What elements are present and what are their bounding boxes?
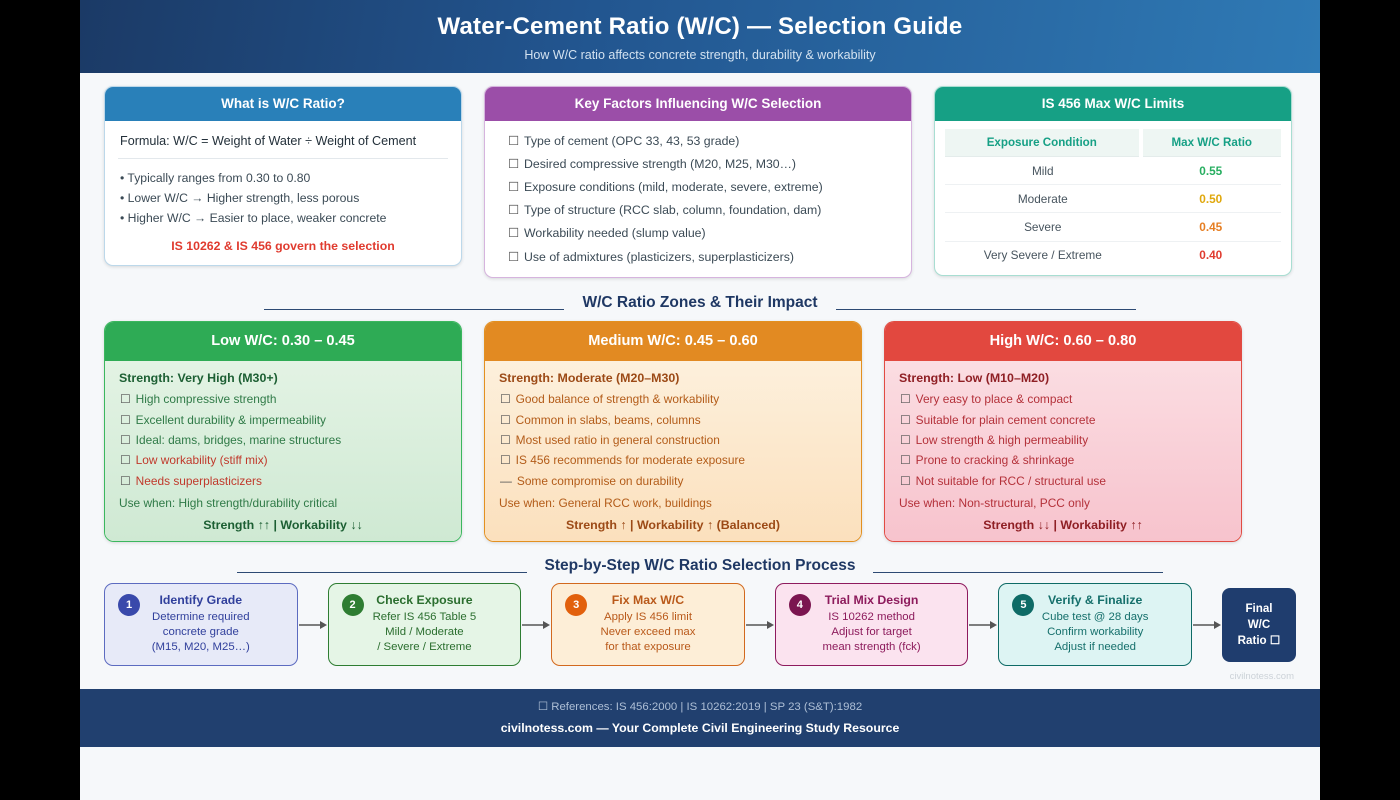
key-factors-list: ☐Type of cement (OPC 33, 43, 53 grade) ☐… [498, 129, 898, 268]
step-line: / Severe / Extreme [337, 640, 513, 655]
checkbox-icon: ☐ [500, 453, 511, 467]
arrow-icon [521, 619, 551, 631]
card-is456-limits: IS 456 Max W/C Limits Exposure Condition… [934, 86, 1292, 276]
cell-ratio: 0.40 [1141, 241, 1281, 269]
table-row: Severe 0.45 [945, 213, 1281, 241]
list-item-label: Most used ratio in general construction [516, 433, 720, 447]
zone-card-high: High W/C: 0.60 – 0.80 Strength: Low (M10… [884, 321, 1242, 542]
list-item-label: IS 456 recommends for moderate exposure [516, 453, 745, 467]
zone-medium-use-when: Use when: General RCC work, buildings [499, 496, 847, 510]
step-line: concrete grade [113, 625, 289, 640]
list-item-label: Use of admixtures (plasticizers, superpl… [524, 250, 794, 264]
checkbox-icon: ☐ [508, 180, 519, 194]
page-header: Water-Cement Ratio (W/C) — Selection Gui… [80, 0, 1320, 73]
zone-low-footer: Strength ↑↑ | Workability ↓↓ [119, 518, 447, 532]
list-item: ☐Most used ratio in general construction [499, 430, 847, 450]
arrow-icon [1192, 619, 1222, 631]
column-header-exposure: Exposure Condition [945, 129, 1141, 157]
list-item: • Higher W/C → Easier to place, weaker c… [118, 208, 448, 228]
top-cards-row: What is W/C Ratio? Formula: W/C = Weight… [80, 86, 1320, 278]
list-item: ☐Needs superplasticizers [119, 471, 447, 491]
wc-formula: Formula: W/C = Weight of Water ÷ Weight … [118, 132, 448, 159]
zone-card-low: Low W/C: 0.30 – 0.45 Strength: Very High… [104, 321, 462, 542]
checkbox-icon: ☐ [900, 392, 911, 406]
section-zones-title: W/C Ratio Zones & Their Impact [582, 294, 817, 312]
step-number-badge: 4 [789, 594, 811, 616]
step-line: mean strength (fck) [784, 640, 960, 655]
card-factors-title: Key Factors Influencing W/C Selection [485, 87, 911, 121]
footer-brand: civilnotess.com — Your Complete Civil En… [80, 721, 1320, 735]
list-item-label: Suitable for plain cement concrete [916, 413, 1096, 427]
step-line: Never exceed max [560, 625, 736, 640]
checkbox-icon: ☐ [500, 392, 511, 406]
column-header-ratio: Max W/C Ratio [1141, 129, 1281, 157]
list-item: ☐Suitable for plain cement concrete [899, 410, 1227, 430]
checkbox-icon: ☐ [120, 474, 131, 488]
arrow-icon [298, 619, 328, 631]
list-item: ☐Common in slabs, beams, columns [499, 410, 847, 430]
cell-exposure: Severe [945, 213, 1141, 241]
checkbox-icon: ☐ [120, 413, 131, 427]
checkbox-icon: ☐ [120, 453, 131, 467]
step-3-fix-max-wc: 3 Fix Max W/C Apply IS 456 limit Never e… [551, 583, 745, 666]
cell-exposure: Very Severe / Extreme [945, 241, 1141, 269]
final-wc-ratio-box: Final W/C Ratio ☐ [1222, 588, 1296, 662]
final-line: W/C [1226, 617, 1292, 633]
zone-medium-list: ☐Good balance of strength & workability … [499, 389, 847, 491]
step-line: Apply IS 456 limit [560, 610, 736, 625]
zone-medium-strength: Strength: Moderate (M20–M30) [499, 371, 847, 385]
is456-limits-table: Exposure Condition Max W/C Ratio Mild 0.… [945, 129, 1281, 269]
list-item: ☐Not suitable for RCC / structural use [899, 471, 1227, 491]
step-line: Mild / Moderate [337, 625, 513, 640]
list-item-label: Low strength & high permeability [916, 433, 1089, 447]
list-item: • Lower W/C → Higher strength, less poro… [118, 188, 448, 208]
checkbox-icon: ☐ [900, 413, 911, 427]
list-item: ☐IS 456 recommends for moderate exposure [499, 450, 847, 470]
zone-medium-footer: Strength ↑ | Workability ↑ (Balanced) [499, 518, 847, 532]
checkbox-icon: ☐ [900, 453, 911, 467]
governing-codes-note: IS 10262 & IS 456 govern the selection [118, 239, 448, 253]
list-item: —Some compromise on durability [499, 471, 847, 491]
list-item: ☐Exposure conditions (mild, moderate, se… [498, 175, 898, 198]
zone-low-list: ☐High compressive strength ☐Excellent du… [119, 389, 447, 491]
list-item: ☐High compressive strength [119, 389, 447, 409]
arrow-icon [745, 619, 775, 631]
cell-exposure: Moderate [945, 185, 1141, 213]
step-4-trial-mix-design: 4 Trial Mix Design IS 10262 method Adjus… [775, 583, 969, 666]
page-footer: ☐ References: IS 456:2000 | IS 10262:201… [80, 689, 1320, 747]
list-item: ☐Ideal: dams, bridges, marine structures [119, 430, 447, 450]
step-line: (M15, M20, M25…) [113, 640, 289, 655]
list-item-label: Low workability (stiff mix) [136, 453, 268, 467]
cell-ratio: 0.55 [1141, 157, 1281, 185]
list-item-label: Type of structure (RCC slab, column, fou… [524, 203, 821, 217]
wc-bullet-list: • Typically ranges from 0.30 to 0.80 • L… [118, 168, 448, 228]
checkbox-icon: ☐ [500, 433, 511, 447]
list-item-label: Very easy to place & compact [916, 392, 1073, 406]
list-item: ☐Excellent durability & impermeability [119, 410, 447, 430]
card-limits-title: IS 456 Max W/C Limits [935, 87, 1291, 121]
step-line: Determine required [113, 610, 289, 625]
card-what-is-wc: What is W/C Ratio? Formula: W/C = Weight… [104, 86, 462, 266]
divider-line-right [836, 309, 1136, 310]
list-item: ☐Very easy to place & compact [899, 389, 1227, 409]
checkbox-icon: ☐ [508, 134, 519, 148]
list-item: ☐Workability needed (slump value) [498, 222, 898, 245]
checkbox-icon: ☐ [120, 392, 131, 406]
step-line: Cube test @ 28 days [1007, 610, 1183, 625]
checkbox-icon: ☐ [508, 157, 519, 171]
table-row: Mild 0.55 [945, 157, 1281, 185]
list-item-label: Type of cement (OPC 33, 43, 53 grade) [524, 134, 739, 148]
zone-card-medium: Medium W/C: 0.45 – 0.60 Strength: Modera… [484, 321, 862, 542]
zone-medium-title: Medium W/C: 0.45 – 0.60 [485, 322, 861, 361]
list-item-label: Desired compressive strength (M20, M25, … [524, 157, 796, 171]
list-item: ☐Prone to cracking & shrinkage [899, 450, 1227, 470]
list-item: ☐Desired compressive strength (M20, M25,… [498, 152, 898, 175]
list-item-label: Exposure conditions (mild, moderate, sev… [524, 180, 823, 194]
cell-ratio: 0.45 [1141, 213, 1281, 241]
divider-line-left [264, 309, 564, 310]
checkbox-icon: ☐ [508, 203, 519, 217]
checkbox-icon: ☐ [500, 413, 511, 427]
step-line: for that exposure [560, 640, 736, 655]
list-item-label: High compressive strength [136, 392, 277, 406]
table-row: Moderate 0.50 [945, 185, 1281, 213]
arrow-icon [968, 619, 998, 631]
step-line: Refer IS 456 Table 5 [337, 610, 513, 625]
zone-high-use-when: Use when: Non-structural, PCC only [899, 496, 1227, 510]
zone-high-list: ☐Very easy to place & compact ☐Suitable … [899, 389, 1227, 491]
step-1-identify-grade: 1 Identify Grade Determine required conc… [104, 583, 298, 666]
step-2-check-exposure: 2 Check Exposure Refer IS 456 Table 5 Mi… [328, 583, 522, 666]
checkbox-icon: ☐ [508, 250, 519, 264]
dash-icon: — [500, 474, 512, 488]
card-what-title: What is W/C Ratio? [105, 87, 461, 121]
list-item-label: Prone to cracking & shrinkage [916, 453, 1075, 467]
zone-low-strength: Strength: Very High (M30+) [119, 371, 447, 385]
list-item: ☐Use of admixtures (plasticizers, superp… [498, 245, 898, 268]
page-subtitle: How W/C ratio affects concrete strength,… [524, 48, 875, 62]
checkbox-icon: ☐ [900, 433, 911, 447]
table-row: Very Severe / Extreme 0.40 [945, 241, 1281, 269]
divider-line-right [873, 572, 1163, 573]
footer-references: ☐ References: IS 456:2000 | IS 10262:201… [80, 699, 1320, 713]
cell-exposure: Mild [945, 157, 1141, 185]
checkbox-icon: ☐ [120, 433, 131, 447]
divider-line-left [237, 572, 527, 573]
step-line: Adjust if needed [1007, 640, 1183, 655]
list-item: ☐Good balance of strength & workability [499, 389, 847, 409]
list-item-label: Some compromise on durability [517, 474, 684, 488]
final-line: Final [1226, 601, 1292, 617]
infographic-page: Water-Cement Ratio (W/C) — Selection Gui… [80, 0, 1320, 800]
table-header-row: Exposure Condition Max W/C Ratio [945, 129, 1281, 157]
cell-ratio: 0.50 [1141, 185, 1281, 213]
final-line: Ratio ☐ [1226, 633, 1292, 649]
zone-high-strength: Strength: Low (M10–M20) [899, 371, 1227, 385]
list-item-label: Excellent durability & impermeability [136, 413, 326, 427]
step-number-badge: 2 [342, 594, 364, 616]
list-item: ☐Type of structure (RCC slab, column, fo… [498, 199, 898, 222]
list-item: ☐Low workability (stiff mix) [119, 450, 447, 470]
list-item-label: Not suitable for RCC / structural use [916, 474, 1106, 488]
section-process-title: Step-by-Step W/C Ratio Selection Process [545, 557, 856, 575]
watermark: civilnotess.com [80, 666, 1320, 682]
zone-cards-row: Low W/C: 0.30 – 0.45 Strength: Very High… [80, 321, 1320, 542]
step-line: IS 10262 method [784, 610, 960, 625]
list-item-label: Good balance of strength & workability [516, 392, 720, 406]
checkbox-icon: ☐ [508, 226, 519, 240]
list-item-label: Ideal: dams, bridges, marine structures [136, 433, 342, 447]
zone-low-title: Low W/C: 0.30 – 0.45 [105, 322, 461, 361]
card-key-factors: Key Factors Influencing W/C Selection ☐T… [484, 86, 912, 278]
zone-high-title: High W/C: 0.60 – 0.80 [885, 322, 1241, 361]
step-5-verify-finalize: 5 Verify & Finalize Cube test @ 28 days … [998, 583, 1192, 666]
list-item: ☐Type of cement (OPC 33, 43, 53 grade) [498, 129, 898, 152]
step-number-badge: 1 [118, 594, 140, 616]
list-item-label: Needs superplasticizers [136, 474, 262, 488]
list-item: • Typically ranges from 0.30 to 0.80 [118, 168, 448, 188]
section-header-process: Step-by-Step W/C Ratio Selection Process [104, 557, 1296, 575]
list-item-label: Common in slabs, beams, columns [516, 413, 701, 427]
list-item-label: Workability needed (slump value) [524, 226, 706, 240]
section-header-zones: W/C Ratio Zones & Their Impact [104, 294, 1296, 312]
step-line: Adjust for target [784, 625, 960, 640]
process-steps-row: 1 Identify Grade Determine required conc… [80, 583, 1320, 666]
step-line: Confirm workability [1007, 625, 1183, 640]
checkbox-icon: ☐ [900, 474, 911, 488]
zone-low-use-when: Use when: High strength/durability criti… [119, 496, 447, 510]
page-title: Water-Cement Ratio (W/C) — Selection Gui… [438, 13, 963, 41]
list-item: ☐Low strength & high permeability [899, 430, 1227, 450]
zone-high-footer: Strength ↓↓ | Workability ↑↑ [899, 518, 1227, 532]
